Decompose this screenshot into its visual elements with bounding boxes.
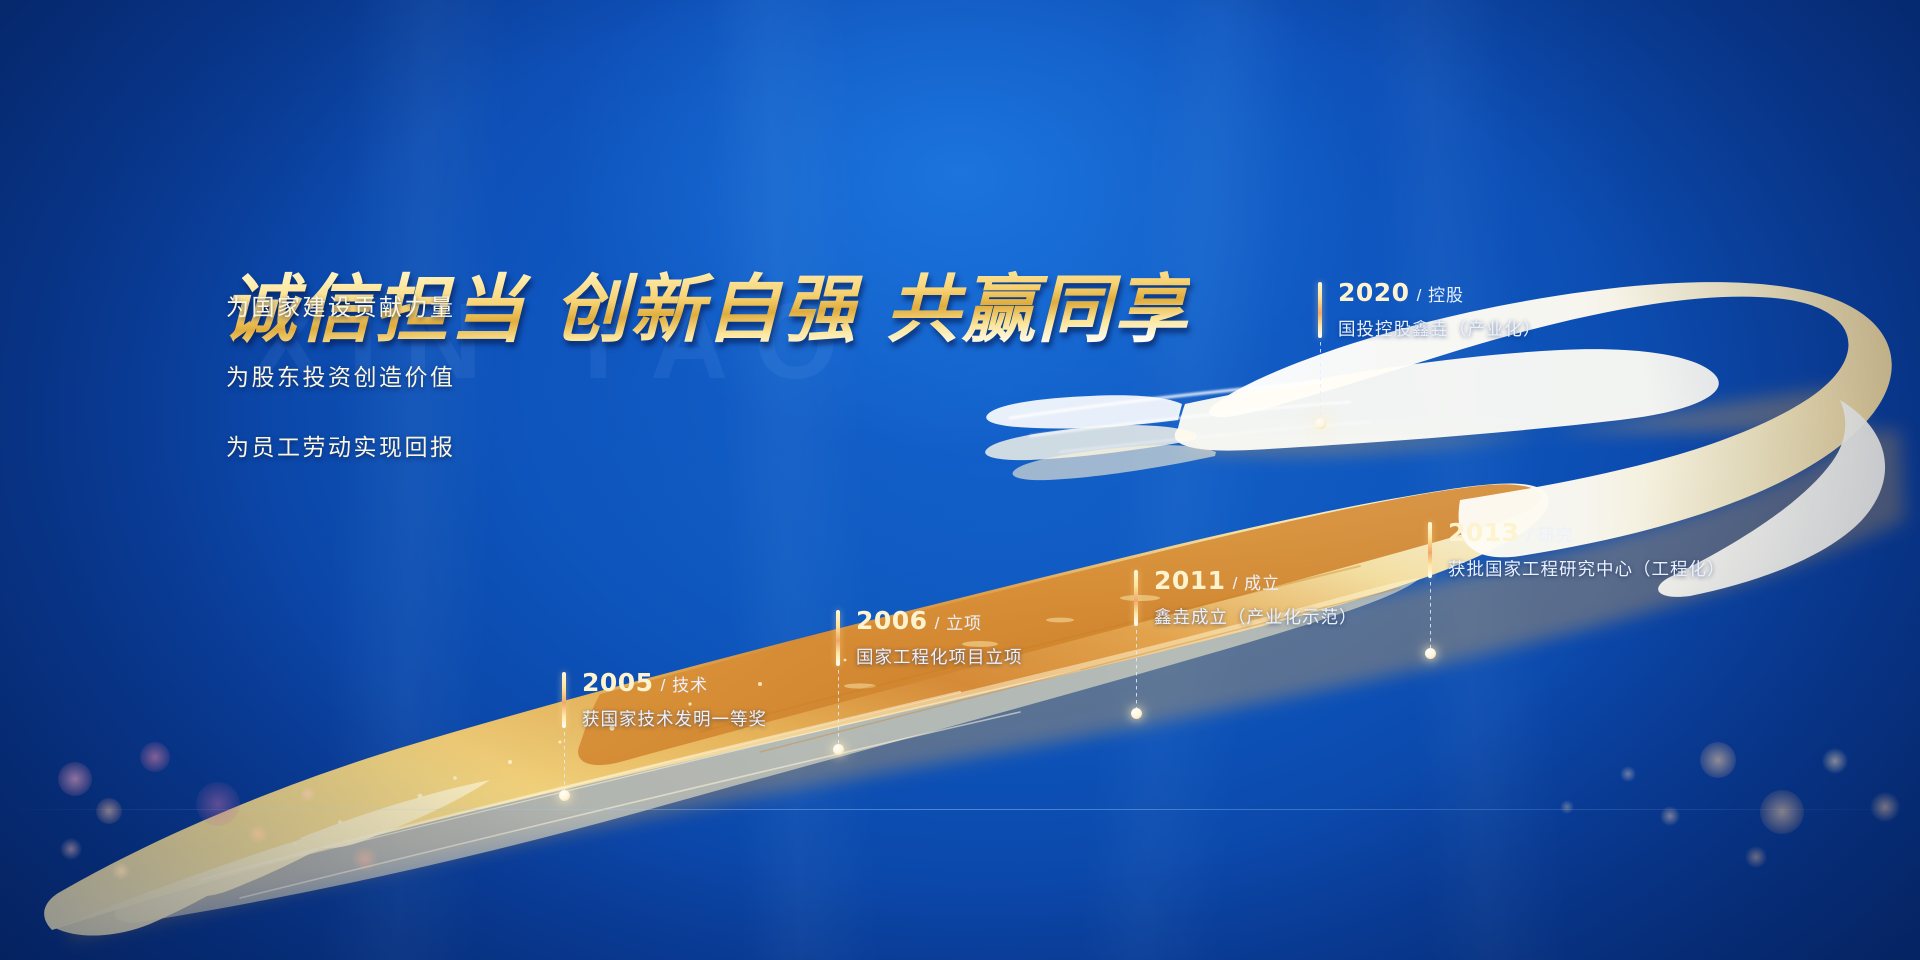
milestone-accent-bar [1134, 570, 1138, 626]
hero-subline-3: 为员工劳动实现回报 [226, 428, 456, 462]
brush-stroke-artwork [0, 0, 1920, 960]
background-vignette [0, 0, 1920, 960]
milestone-dot-2020 [1315, 418, 1326, 429]
horizon-divider-line [0, 809, 1920, 810]
milestone-dot-2006 [833, 744, 844, 755]
milestone-year: 2011 [1154, 566, 1226, 595]
background-light-streaks [0, 0, 1920, 960]
milestone-dot-2005 [559, 790, 570, 801]
milestone-accent-bar [1428, 522, 1432, 578]
milestone-text: 2006/ 立项 国家工程化项目立项 [856, 606, 1023, 669]
milestone-text: 2020/ 控股 国投控股鑫垚（产业化） [1338, 278, 1542, 341]
milestone-desc: 鑫垚成立（产业化示范） [1154, 604, 1358, 629]
milestone-accent-bar [1318, 282, 1322, 338]
milestone-accent-bar [562, 672, 566, 728]
hero-sublines: 为国家建设贡献力量 为股东投资创造价值 为员工劳动实现回报 [226, 288, 456, 462]
milestone-dot-2011 [1131, 708, 1142, 719]
milestone-tag: / 立项 [935, 614, 982, 633]
milestone-desc: 国投控股鑫垚（产业化） [1338, 316, 1542, 341]
hero-subline-1: 为国家建设贡献力量 [226, 288, 456, 322]
milestone-text: 2005/ 技术 获国家技术发明一等奖 [582, 668, 767, 731]
milestone-leader-2013 [1430, 582, 1431, 652]
milestone-year: 2006 [856, 606, 928, 635]
milestone-year: 2013 [1448, 518, 1520, 547]
banner-stage: XIN YAO 诚信担当 创新自强 共赢同享 为国家建设贡献力量 为股东投资创造… [0, 0, 1920, 960]
milestone-tag: / 控股 [1417, 286, 1464, 305]
milestone-desc: 国家工程化项目立项 [856, 644, 1023, 669]
milestone-tag: / 成立 [1233, 574, 1280, 593]
milestone-leader-2005 [564, 732, 565, 794]
milestone-desc: 获国家技术发明一等奖 [582, 706, 767, 731]
milestone-year: 2005 [582, 668, 654, 697]
milestone-accent-bar [836, 610, 840, 666]
milestone-leader-2020 [1320, 342, 1321, 420]
milestone-year: 2020 [1338, 278, 1410, 307]
milestone-text: 2011/ 成立 鑫垚成立（产业化示范） [1154, 566, 1358, 629]
milestone-tag: / 研究 [1527, 526, 1574, 545]
milestone-leader-2011 [1136, 630, 1137, 710]
milestone-text: 2013/ 研究 获批国家工程研究中心（工程化） [1448, 518, 1726, 581]
hero-subline-2: 为股东投资创造价值 [226, 358, 456, 392]
milestone-dot-2013 [1425, 648, 1436, 659]
milestone-leader-2006 [838, 670, 839, 746]
milestone-desc: 获批国家工程研究中心（工程化） [1448, 556, 1726, 581]
milestone-tag: / 技术 [661, 676, 708, 695]
